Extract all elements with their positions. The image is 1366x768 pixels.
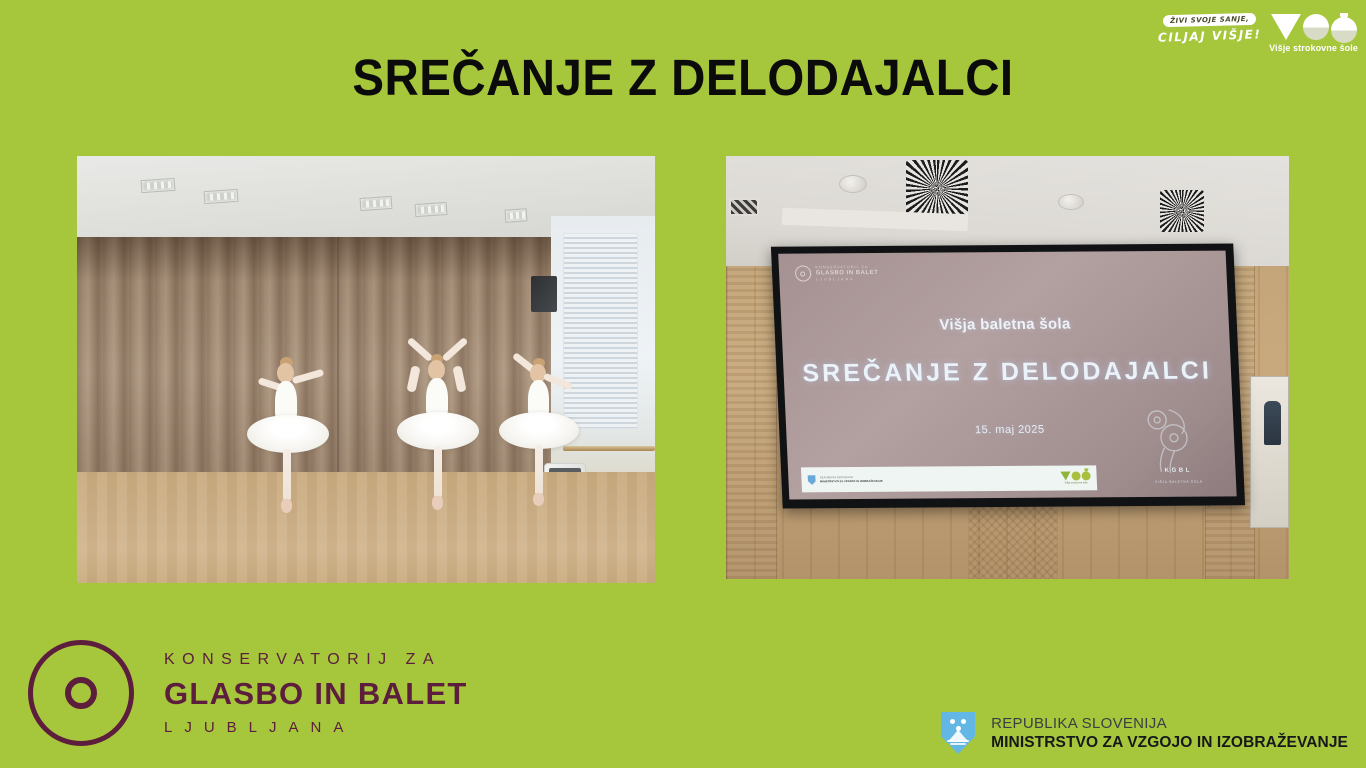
dancer-head [428, 360, 445, 380]
hall-door [1250, 376, 1289, 528]
dancer-leg [535, 445, 543, 495]
dancer-pointe-shoe [432, 496, 443, 510]
triangle-icon [1271, 14, 1301, 40]
ceiling-light-icon [360, 195, 393, 210]
vss-slogan-line1: ŽIVI SVOJE SANJE, [1163, 13, 1256, 27]
dancer-figure [395, 344, 505, 524]
slide-footer-vss-shapes [1060, 471, 1090, 480]
vss-shapes [1271, 13, 1357, 41]
ceiling-vent-icon [1160, 190, 1204, 232]
dancer-figure [250, 357, 360, 527]
slide-footer-ministry: REPUBLIKA SLOVENIJA MINISTRSTVO ZA VZGOJ… [807, 474, 882, 485]
ministry-logo: REPUBLIKA SLOVENIJA MINISTRSTVO ZA VZGOJ… [941, 712, 1348, 754]
slide-footer-vss: Višje strokovne šole [1060, 471, 1091, 484]
ceiling-grille-icon [729, 198, 759, 216]
ministry-logo-text: REPUBLIKA SLOVENIJA MINISTRSTVO ZA VZGOJ… [991, 715, 1348, 752]
dancer-arm [406, 365, 420, 392]
circle-icon [1071, 471, 1080, 480]
slide-logo-ring-icon [794, 266, 811, 282]
kgbl-logo-text: KONSERVATORIJ ZA GLASBO IN BALET LJUBLJA… [164, 651, 468, 736]
person-silhouette [1264, 401, 1281, 445]
slide-footer-bar: REPUBLIKA SLOVENIJA MINISTRSTVO ZA VZGOJ… [801, 465, 1097, 492]
crest-wave [950, 743, 966, 745]
dancer-pointe-shoe [281, 499, 292, 513]
projection-screen-frame: KONSERVATORIJ ZA GLASBO IN BALET LJUBLJA… [771, 243, 1245, 508]
circle-stem-icon [1081, 471, 1090, 480]
dancer-tutu [247, 415, 329, 453]
dancer-leg [434, 446, 442, 498]
dancer-tutu [397, 412, 479, 450]
projection-screen-surface: KONSERVATORIJ ZA GLASBO IN BALET LJUBLJA… [778, 250, 1236, 499]
slide-logo-line1: KONSERVATORIJ ZA [815, 265, 878, 269]
kgbl-emblem-sublabel: VIŠJA BALETNA ŠOLA [1148, 479, 1208, 483]
dancer-figure [505, 352, 615, 524]
kgbl-logo: KONSERVATORIJ ZA GLASBO IN BALET LJUBLJA… [28, 640, 468, 746]
slovenia-coat-of-arms-icon [807, 475, 815, 485]
kgbl-logo-line2: GLASBO IN BALET [164, 676, 468, 712]
dancer-leg [283, 449, 291, 501]
slide-footer-vss-caption: Višje strokovne šole [1064, 481, 1087, 484]
vss-marks: Višje strokovne šole [1269, 13, 1358, 53]
dancer-arm [292, 368, 325, 384]
vss-slogan-line2: CILJAJ VIŠJE! [1158, 27, 1262, 45]
circle-stem-ball-icon [1331, 17, 1357, 43]
kgbl-emblem-icon [1138, 403, 1203, 473]
page-title: SREČANJE Z DELODAJALCI [48, 48, 1318, 107]
dancer-tutu [499, 412, 579, 449]
slide-title: SREČANJE Z DELODAJALCI [783, 356, 1231, 388]
ceiling-vent-icon [906, 160, 968, 218]
ministry-logo-line2: MINISTRSTVO ZA VZGOJO IN IZOBRAŽEVANJE [991, 734, 1348, 752]
slide-footer-ministry-line2: MINISTRSTVO ZA VZGOJO IN IZOBRAŽEVANJE [820, 480, 883, 483]
kgbl-logo-line1: KONSERVATORIJ ZA [164, 651, 468, 669]
slovenia-coat-of-arms-icon [941, 712, 975, 754]
crest-wave [947, 740, 969, 742]
kgbl-circle-icon [28, 640, 134, 746]
vss-slogan: ŽIVI SVOJE SANJE, CILJAJ VIŠJE! [1158, 14, 1261, 43]
slide-subtitle: Višja baletna šola [781, 314, 1229, 334]
circle-stem-icon [1331, 13, 1357, 43]
presentation-screen-photo: KONSERVATORIJ ZA GLASBO IN BALET LJUBLJA… [726, 156, 1289, 579]
slide-logo-line3: LJUBLJANA [816, 277, 879, 281]
slide-logo-line2: GLASBO IN BALET [815, 270, 878, 276]
slide-footer-ministry-text: REPUBLIKA SLOVENIJA MINISTRSTVO ZA VZGOJ… [819, 476, 882, 483]
triangle-icon [1060, 471, 1070, 480]
kgbl-logo-line3: LJUBLJANA [164, 719, 468, 736]
ministry-logo-line1: REPUBLIKA SLOVENIJA [991, 715, 1348, 732]
dancer-arm [452, 365, 466, 392]
slide-footer-ministry-line1: REPUBLIKA SLOVENIJA [819, 476, 882, 479]
wall-speaker-icon [531, 276, 557, 312]
kgbl-emblem-label: KGBL [1148, 467, 1208, 473]
ceiling-light-icon [204, 189, 239, 204]
slide-institution-logo: KONSERVATORIJ ZA GLASBO IN BALET LJUBLJA… [794, 265, 878, 282]
ballet-dancers-photo [77, 156, 655, 583]
circle-icon [1303, 14, 1329, 40]
ceiling-light-icon [415, 202, 448, 217]
wood-panel [726, 241, 777, 579]
dancer-pointe-shoe [533, 493, 544, 506]
slide-logo-text: KONSERVATORIJ ZA GLASBO IN BALET LJUBLJA… [815, 265, 878, 281]
ceiling-light-icon [504, 209, 527, 224]
ceiling-speaker-icon [839, 175, 867, 193]
